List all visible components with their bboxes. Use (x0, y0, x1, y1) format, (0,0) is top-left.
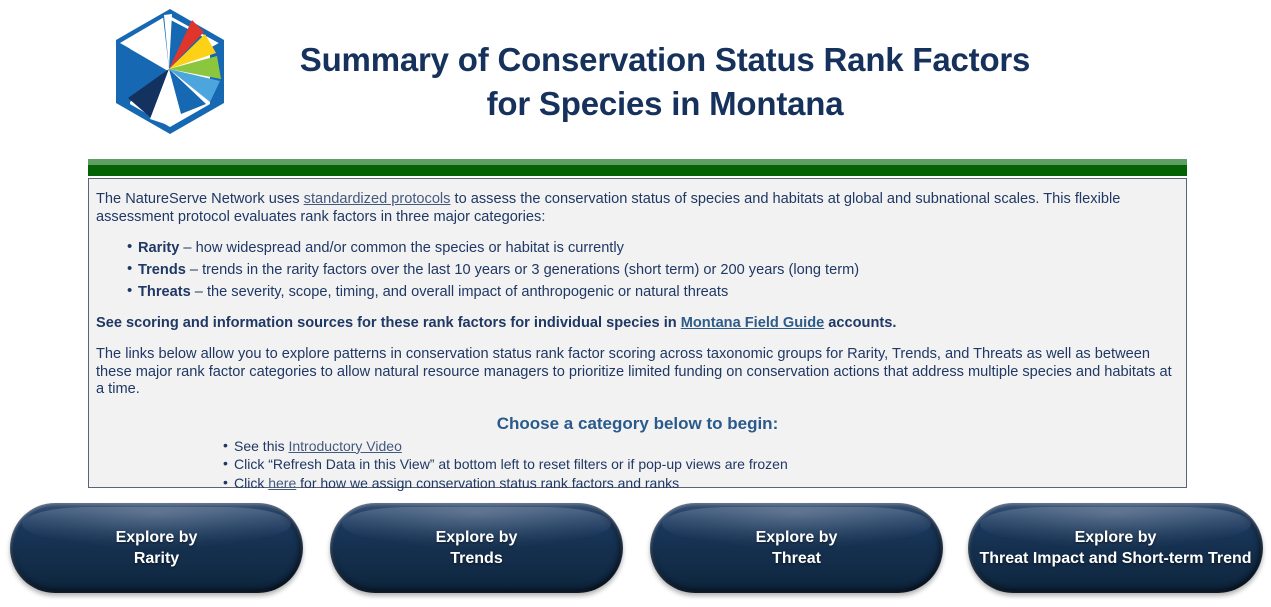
standardized-protocols-link[interactable]: standardized protocols (304, 191, 451, 207)
introductory-video-link[interactable]: Introductory Video (288, 438, 401, 454)
page-header: Summary of Conservation Status Rank Fact… (0, 0, 1271, 150)
choose-category-heading: Choose a category below to begin: (96, 414, 1179, 434)
sources-text-part-2: accounts. (824, 315, 896, 331)
button-label: Explore byTrends (436, 527, 518, 569)
factor-term: Trends (138, 262, 186, 278)
step-text-part-1: See this (234, 438, 288, 454)
sources-text-part-1: See scoring and information sources for … (96, 315, 681, 331)
rank-factor-list: Rarity – how widespread and/or common th… (96, 239, 1179, 301)
list-item: Click here for how we assign conservatio… (223, 474, 1179, 493)
intro-text-part-1: The NatureServe Network uses (96, 191, 304, 207)
list-item: Threats – the severity, scope, timing, a… (127, 283, 1179, 301)
button-label-line-1: Explore by (436, 529, 518, 546)
button-label-line-1: Explore by (756, 529, 838, 546)
page-title-line-1: Summary of Conservation Status Rank Fact… (250, 38, 1080, 82)
montana-field-guide-link[interactable]: Montana Field Guide (681, 315, 825, 331)
explore-by-trends-button[interactable]: Explore byTrends (330, 503, 623, 593)
button-label: Explore byThreat Impact and Short-term T… (979, 527, 1251, 569)
button-label-line-2: Trends (450, 550, 502, 567)
intro-content-panel: The NatureServe Network uses standardize… (88, 178, 1187, 488)
factor-desc: – trends in the rarity factors over the … (186, 262, 859, 278)
page-title-line-2: for Species in Montana (250, 82, 1080, 126)
accent-bar-dark (88, 165, 1187, 176)
natureserve-logo-icon (106, 6, 234, 136)
here-link[interactable]: here (268, 475, 296, 491)
explore-paragraph: The links below allow you to explore pat… (96, 346, 1179, 399)
intro-paragraph: The NatureServe Network uses standardize… (96, 191, 1179, 226)
factor-term: Threats (138, 284, 191, 300)
button-label-line-2: Rarity (134, 550, 179, 567)
button-label-line-1: Explore by (116, 529, 198, 546)
step-text-part-1: Click (234, 475, 268, 491)
list-item: Trends – trends in the rarity factors ov… (127, 261, 1179, 279)
explore-by-threat-impact-and-short-term-trend-button[interactable]: Explore byThreat Impact and Short-term T… (968, 503, 1263, 593)
factor-term: Rarity (138, 240, 179, 256)
sources-line: See scoring and information sources for … (96, 315, 1179, 331)
step-text-part-2: for how we assign conservation status ra… (296, 475, 679, 491)
factor-desc: – how widespread and/or common the speci… (179, 240, 624, 256)
category-button-row: Explore byRarity Explore byTrends Explor… (0, 503, 1271, 607)
button-label-line-2: Threat (772, 550, 821, 567)
accent-bar (88, 159, 1187, 176)
list-item: Rarity – how widespread and/or common th… (127, 239, 1179, 257)
list-item: See this Introductory Video (223, 437, 1179, 456)
step-text-part-1: Click “Refresh Data in this View” at bot… (234, 456, 788, 472)
button-label-line-1: Explore by (1075, 529, 1157, 546)
factor-desc: – the severity, scope, timing, and overa… (191, 284, 729, 300)
page-title: Summary of Conservation Status Rank Fact… (250, 38, 1080, 126)
explore-by-rarity-button[interactable]: Explore byRarity (10, 503, 303, 593)
button-label: Explore byThreat (756, 527, 838, 569)
button-label-line-2: Threat Impact and Short-term Trend (979, 550, 1251, 567)
list-item: Click “Refresh Data in this View” at bot… (223, 455, 1179, 474)
button-label: Explore byRarity (116, 527, 198, 569)
explore-by-threat-button[interactable]: Explore byThreat (650, 503, 943, 593)
instruction-list: See this Introductory Video Click “Refre… (96, 437, 1179, 493)
